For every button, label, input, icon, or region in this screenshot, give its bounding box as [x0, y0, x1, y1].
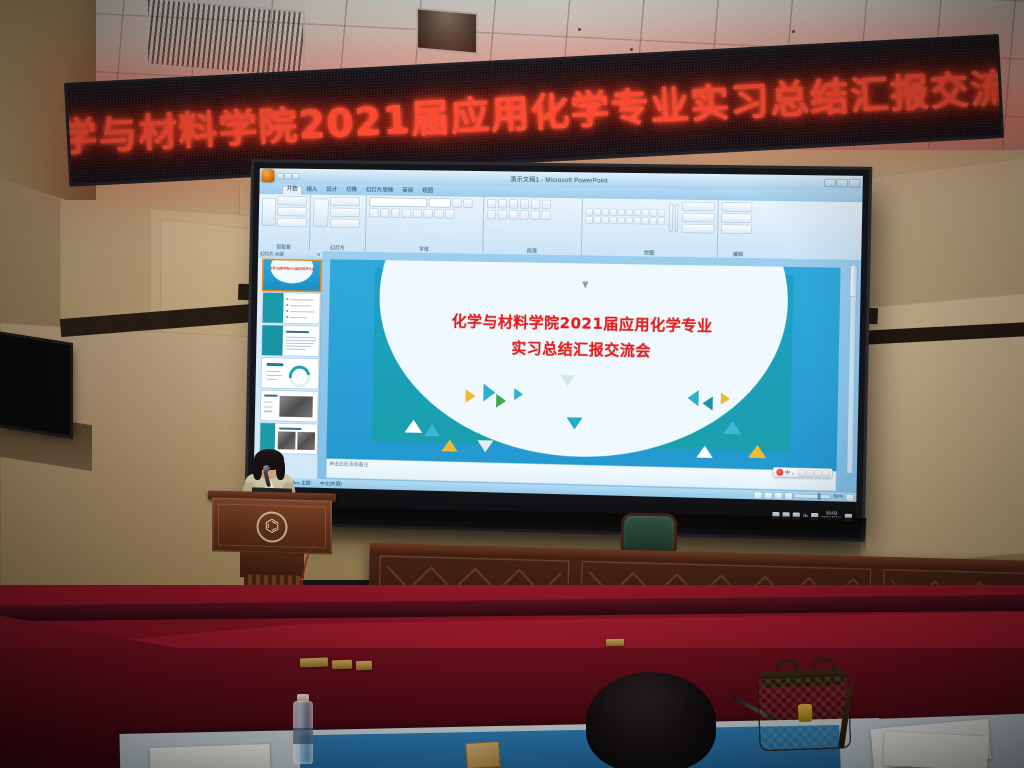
- ceiling-fixture-dot: [578, 28, 581, 31]
- current-slide[interactable]: 化学与材料学院2021届应用化学专业 实习总结汇报交流会: [326, 259, 840, 473]
- ribbon-group-font[interactable]: 字体: [366, 195, 485, 253]
- shape-icon[interactable]: [634, 217, 641, 224]
- wood-block: [300, 658, 328, 668]
- section-button[interactable]: [330, 219, 360, 228]
- find-button[interactable]: [722, 202, 753, 211]
- character-spacing-icon[interactable]: [424, 209, 433, 218]
- conference-hall-photo: 化学与材料学院2021届应用化学专业实习总结汇报交流会 演示文稿1 - Micr…: [0, 0, 1024, 768]
- triangle-decoration: [442, 439, 458, 451]
- zoom-slider[interactable]: [796, 494, 831, 498]
- undo-icon[interactable]: [285, 173, 291, 179]
- university-emblem-icon: ⌬: [257, 511, 288, 543]
- view-normal-icon[interactable]: [755, 492, 762, 498]
- slide-thumbnail-4[interactable]: 4: [261, 358, 318, 389]
- layout-button[interactable]: [330, 197, 360, 206]
- quick-styles-button[interactable]: [674, 203, 678, 231]
- paper-sheet: [150, 744, 271, 768]
- projection-screen: 演示文稿1 - Microsoft PowerPoint 开始 插入 设计 切换…: [253, 168, 863, 532]
- increase-indent-icon[interactable]: [520, 200, 529, 209]
- photo-placeholder: [297, 432, 315, 451]
- triangle-decoration: [721, 393, 730, 405]
- triangle-decoration: [567, 418, 583, 430]
- donut-chart-icon: [284, 361, 314, 389]
- triangle-decoration: [466, 389, 476, 403]
- triangle-decoration: [560, 375, 574, 386]
- vertical-scrollbar[interactable]: [847, 264, 857, 474]
- font-size-select[interactable]: [429, 198, 451, 207]
- shape-icon[interactable]: [626, 217, 633, 224]
- workspace: 幻灯片 大纲 ✕ 1 化学与材料学院2021届应用化学专业: [254, 250, 862, 502]
- arrange-button[interactable]: [669, 203, 673, 231]
- shape-gallery[interactable]: [585, 208, 665, 224]
- align-right-icon[interactable]: [509, 210, 518, 219]
- chair-backrest: [624, 516, 675, 551]
- shape-icon[interactable]: [594, 209, 601, 216]
- text-direction-icon[interactable]: [542, 200, 551, 209]
- thumbnail-side-panel: [262, 325, 283, 355]
- change-case-icon[interactable]: [434, 209, 443, 218]
- align-left-icon[interactable]: [487, 210, 496, 219]
- shape-icon[interactable]: [618, 209, 625, 216]
- handbag: [756, 658, 851, 756]
- ribbon-group-drawing[interactable]: 绘图: [582, 198, 719, 257]
- paper-sheet: [883, 731, 989, 768]
- shape-icon[interactable]: [610, 209, 617, 216]
- mouse-cursor-icon: [582, 282, 588, 289]
- slide-thumbnail-2[interactable]: 2: [263, 293, 320, 324]
- shape-icon[interactable]: [642, 209, 649, 216]
- italic-icon[interactable]: [380, 208, 389, 217]
- triangle-decoration: [748, 444, 767, 458]
- justify-icon[interactable]: [520, 210, 529, 219]
- ceiling-fixture-dot: [792, 30, 795, 33]
- speaker-hair: [253, 458, 262, 480]
- view-sorter-icon[interactable]: [765, 492, 772, 498]
- wood-block: [606, 639, 624, 646]
- ime-skin-icon[interactable]: [815, 470, 821, 476]
- grow-font-icon[interactable]: [452, 199, 461, 208]
- shape-icon[interactable]: [618, 217, 625, 224]
- shape-outline-button[interactable]: [682, 213, 715, 223]
- shape-icon[interactable]: [658, 209, 665, 216]
- language-label[interactable]: 中文(中国): [320, 480, 342, 488]
- shape-icon[interactable]: [642, 217, 649, 224]
- bullets-icon[interactable]: [487, 199, 496, 208]
- shape-icon[interactable]: [610, 217, 617, 224]
- wall-monitor: [0, 334, 70, 435]
- wood-block: [356, 661, 372, 671]
- ribbon-group-clipboard[interactable]: 剪贴板: [258, 194, 311, 251]
- align-center-icon[interactable]: [498, 210, 507, 219]
- ime-toolbar[interactable]: 中 。: [773, 467, 833, 478]
- shape-icon[interactable]: [585, 216, 592, 223]
- maximize-button[interactable]: [837, 180, 847, 187]
- triangle-decoration: [405, 420, 423, 433]
- format-painter-button[interactable]: [277, 218, 306, 227]
- view-reading-icon[interactable]: [775, 492, 782, 498]
- close-button[interactable]: [849, 180, 859, 187]
- ime-punctuation-label[interactable]: 。: [792, 469, 797, 475]
- photo-placeholder: [278, 431, 296, 450]
- shape-icon[interactable]: [626, 209, 633, 216]
- ceiling-diffuser-icon: [418, 9, 476, 52]
- slide-thumbnail-5[interactable]: 5: [261, 391, 318, 422]
- triangle-decoration: [703, 396, 713, 410]
- powerpoint-window: 演示文稿1 - Microsoft PowerPoint 开始 插入 设计 切换…: [254, 168, 863, 502]
- reset-button[interactable]: [330, 208, 360, 217]
- bold-icon[interactable]: [369, 208, 378, 217]
- sogou-logo-icon[interactable]: [776, 469, 783, 476]
- cut-button[interactable]: [278, 196, 307, 205]
- shape-icon[interactable]: [650, 217, 657, 224]
- ribbon-group-editing[interactable]: 编辑: [718, 200, 760, 258]
- underline-icon[interactable]: [391, 209, 400, 218]
- screen-surface: 演示文稿1 - Microsoft PowerPoint 开始 插入 设计 切换…: [253, 168, 863, 532]
- triangle-decoration: [514, 388, 523, 400]
- triangle-decoration: [687, 390, 698, 406]
- decrease-indent-icon[interactable]: [509, 199, 518, 208]
- replace-button[interactable]: [721, 213, 752, 223]
- shape-icon[interactable]: [658, 217, 665, 224]
- slide-editor[interactable]: 化学与材料学院2021届应用化学专业 实习总结汇报交流会: [318, 251, 861, 502]
- triangle-decoration: [496, 394, 506, 408]
- dome-shape: [270, 260, 314, 284]
- shape-effects-button[interactable]: [682, 224, 715, 234]
- wood-block: [332, 660, 352, 670]
- font-family-select[interactable]: [370, 197, 427, 207]
- ribbon-group-paragraph[interactable]: 段落: [483, 197, 583, 255]
- copy-button[interactable]: [277, 207, 306, 216]
- columns-icon[interactable]: [531, 211, 540, 220]
- paste-button[interactable]: [262, 197, 276, 225]
- slide-thumbnail-3[interactable]: 3: [262, 325, 319, 356]
- zoom-level[interactable]: 59%: [833, 494, 843, 499]
- font-color-icon[interactable]: [445, 209, 454, 218]
- select-button[interactable]: [721, 224, 752, 234]
- triangle-decoration: [483, 383, 495, 401]
- triangle-decoration: [697, 445, 713, 457]
- ribbon-group-slides[interactable]: 幻灯片: [310, 195, 367, 252]
- slide-thumbnail-1[interactable]: 1 化学与材料学院2021届应用化学专业: [263, 260, 320, 291]
- shape-fill-button[interactable]: [682, 202, 715, 212]
- ime-toolbox-icon[interactable]: [807, 470, 813, 476]
- microphone-head-icon: [263, 465, 270, 472]
- bottle-label: [293, 728, 313, 744]
- thumbnail-title: 化学与材料学院2021届应用化学专业: [269, 267, 314, 272]
- office-orb-icon[interactable]: [262, 169, 275, 182]
- photo-placeholder: [279, 396, 313, 418]
- view-slideshow-icon[interactable]: [785, 493, 792, 499]
- smartart-convert-icon[interactable]: [542, 211, 551, 220]
- shape-icon[interactable]: [586, 208, 593, 215]
- shape-icon[interactable]: [650, 209, 657, 216]
- close-pane-icon[interactable]: ✕: [317, 252, 321, 258]
- save-icon[interactable]: [277, 173, 283, 179]
- quick-access-toolbar[interactable]: [277, 173, 299, 179]
- ceiling-fixture-dot: [630, 48, 633, 51]
- thumbnail-canvas: 化学与材料学院2021届应用化学专业: [263, 260, 320, 291]
- new-slide-button[interactable]: [313, 198, 328, 226]
- ime-menu-icon[interactable]: [823, 470, 829, 476]
- window-controls[interactable]: [825, 179, 860, 187]
- bag-clasp-icon: [798, 704, 813, 722]
- speaker-hair: [276, 458, 285, 480]
- scrollbar-thumb[interactable]: [850, 266, 857, 296]
- shape-icon[interactable]: [593, 217, 600, 224]
- line-spacing-icon[interactable]: [531, 200, 540, 209]
- triangle-decoration: [723, 421, 742, 435]
- thumbnail-side-panel: [263, 293, 284, 323]
- minimize-button[interactable]: [825, 179, 835, 186]
- numbering-icon[interactable]: [498, 199, 507, 208]
- strikethrough-icon[interactable]: [413, 209, 422, 218]
- water-bottle: [292, 694, 314, 764]
- shape-icon[interactable]: [602, 217, 609, 224]
- slides-pane-title: 幻灯片 大纲: [260, 251, 284, 257]
- shrink-font-icon[interactable]: [463, 199, 472, 208]
- fit-to-window-icon[interactable]: [846, 494, 853, 500]
- audience-member-head: [586, 672, 716, 768]
- triangle-decoration: [425, 424, 441, 436]
- ceiling-vent-icon: [148, 0, 303, 77]
- ime-mode-label[interactable]: 中: [785, 469, 790, 475]
- ime-keyboard-icon[interactable]: [799, 470, 805, 476]
- slide-title-textbox[interactable]: 化学与材料学院2021届应用化学专业 实习总结汇报交流会: [368, 306, 798, 367]
- shadow-icon[interactable]: [402, 209, 411, 218]
- cardboard-item: [465, 741, 501, 768]
- triangle-decoration: [477, 440, 493, 452]
- shape-icon[interactable]: [634, 209, 641, 216]
- shape-icon[interactable]: [602, 209, 609, 216]
